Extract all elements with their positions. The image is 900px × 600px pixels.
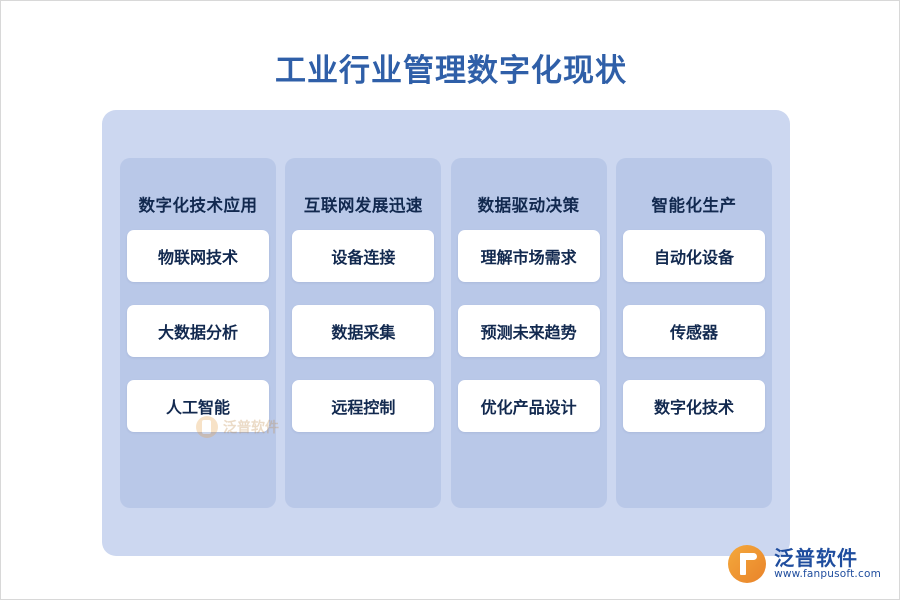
item-card[interactable]: 自动化设备 xyxy=(623,230,765,282)
item-card[interactable]: 人工智能 xyxy=(127,380,269,432)
column-items: 设备连接 数据采集 远程控制 xyxy=(292,230,434,432)
page-title: 工业行业管理数字化现状 xyxy=(1,45,900,90)
column-items: 理解市场需求 预测未来趋势 优化产品设计 xyxy=(458,230,600,432)
item-card[interactable]: 数字化技术 xyxy=(623,380,765,432)
item-card[interactable]: 设备连接 xyxy=(292,230,434,282)
brand-url: www.fanpusoft.com xyxy=(774,569,881,581)
diagram-panel: 数字化技术应用 物联网技术 大数据分析 人工智能 互联网发展迅速 设备连接 数据… xyxy=(102,110,790,556)
diagram-columns: 数字化技术应用 物联网技术 大数据分析 人工智能 互联网发展迅速 设备连接 数据… xyxy=(120,158,772,508)
column-heading: 互联网发展迅速 xyxy=(304,192,423,216)
item-card[interactable]: 理解市场需求 xyxy=(458,230,600,282)
diagram-column-4[interactable]: 智能化生产 自动化设备 传感器 数字化技术 xyxy=(616,158,772,508)
column-heading: 智能化生产 xyxy=(651,192,736,216)
diagram-column-2[interactable]: 互联网发展迅速 设备连接 数据采集 远程控制 xyxy=(285,158,441,508)
item-card[interactable]: 大数据分析 xyxy=(127,305,269,357)
diagram-column-1[interactable]: 数字化技术应用 物联网技术 大数据分析 人工智能 xyxy=(120,158,276,508)
fanpu-logo-icon xyxy=(728,545,766,583)
brand-text: 泛普软件 www.fanpusoft.com xyxy=(774,547,881,581)
item-card[interactable]: 优化产品设计 xyxy=(458,380,600,432)
item-card[interactable]: 物联网技术 xyxy=(127,230,269,282)
item-card[interactable]: 远程控制 xyxy=(292,380,434,432)
diagram-column-3[interactable]: 数据驱动决策 理解市场需求 预测未来趋势 优化产品设计 xyxy=(451,158,607,508)
column-items: 自动化设备 传感器 数字化技术 xyxy=(623,230,765,432)
brand-logo: 泛普软件 www.fanpusoft.com xyxy=(728,545,881,583)
item-card[interactable]: 传感器 xyxy=(623,305,765,357)
item-card[interactable]: 预测未来趋势 xyxy=(458,305,600,357)
column-items: 物联网技术 大数据分析 人工智能 xyxy=(127,230,269,432)
item-card[interactable]: 数据采集 xyxy=(292,305,434,357)
brand-name: 泛普软件 xyxy=(774,547,881,569)
slide-canvas: 工业行业管理数字化现状 数字化技术应用 物联网技术 大数据分析 人工智能 互联网… xyxy=(0,0,900,600)
column-heading: 数据驱动决策 xyxy=(478,192,580,216)
column-heading: 数字化技术应用 xyxy=(139,192,258,216)
